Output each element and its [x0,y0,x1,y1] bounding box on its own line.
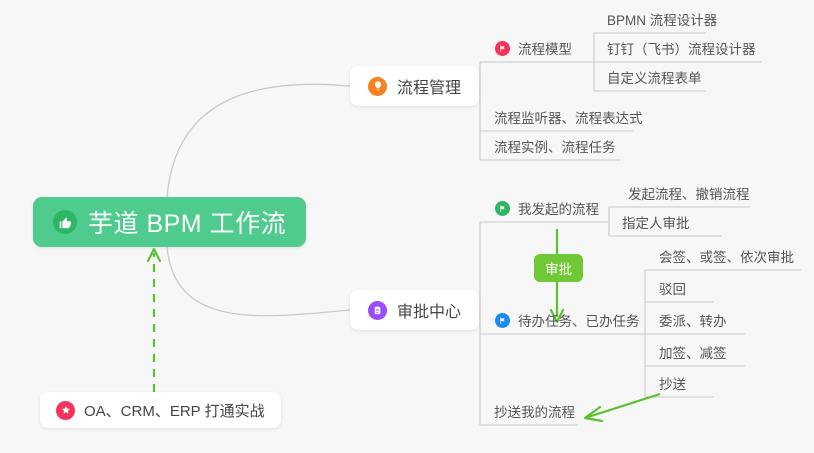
wire-root-to-approval-center [167,247,350,316]
node-delegate-transfer[interactable]: 委派、转办 [652,306,733,334]
node-reject[interactable]: 驳回 [652,274,692,302]
node-label: 流程实例、流程任务 [494,136,616,156]
flag-icon [495,201,510,216]
root-node[interactable]: 芋道 BPM 工作流 [33,197,306,247]
branch-label: 流程管理 [397,74,461,98]
node-instance-task[interactable]: 流程实例、流程任务 [487,132,622,160]
badge-label: 审批 [545,258,572,278]
branch-approval-center[interactable]: 审批中心 [350,290,479,330]
node-label: 指定人审批 [622,212,690,232]
node-label: 抄送我的流程 [494,401,575,421]
node-add-remove-sign[interactable]: 加签、减签 [652,338,733,366]
node-label: BPMN 流程设计器 [607,9,717,29]
node-label: 自定义流程表单 [607,67,702,87]
node-label: 发起流程、撤销流程 [628,183,750,203]
node-label: 流程监听器、流程表达式 [494,107,643,127]
node-bpmn-designer[interactable]: BPMN 流程设计器 [600,5,723,33]
root-label: 芋道 BPM 工作流 [88,204,286,240]
green-arrow-cc-flow [588,394,660,417]
node-process-model[interactable]: 流程模型 [488,34,578,62]
clipboard-icon [368,301,387,320]
node-start-cancel-process[interactable]: 发起流程、撤销流程 [621,179,756,207]
node-label: 加签、减签 [659,342,727,362]
floating-node-oa-crm-erp[interactable]: OA、CRM、ERP 打通实战 [40,392,281,428]
approval-badge[interactable]: 审批 [534,254,583,282]
node-label: 抄送 [659,373,686,393]
floating-node-label: OA、CRM、ERP 打通实战 [84,400,265,421]
node-custom-process-form[interactable]: 自定义流程表单 [600,63,708,91]
node-label: 钉钉（飞书）流程设计器 [607,38,756,58]
node-label: 流程模型 [518,38,572,58]
node-label: 会签、或签、依次审批 [659,246,794,266]
node-label: 委派、转办 [659,310,727,330]
node-my-started-processes[interactable]: 我发起的流程 [488,194,605,222]
node-label: 我发起的流程 [518,198,599,218]
node-assignee-approval[interactable]: 指定人审批 [615,208,696,236]
node-dingtalk-feishu-designer[interactable]: 钉钉（飞书）流程设计器 [600,34,762,62]
node-countersign[interactable]: 会签、或签、依次审批 [652,242,800,270]
node-label: 待办任务、已办任务 [518,310,640,330]
flag-icon [495,41,510,56]
thumbs-up-icon [53,210,77,234]
lightbulb-icon [368,77,387,96]
branch-label: 审批中心 [397,298,461,322]
branch-process-management[interactable]: 流程管理 [350,66,479,106]
green-dashed-arrow-head [148,249,160,261]
flag-icon [495,313,510,328]
green-arrow-cc-head [585,407,602,421]
mindmap-canvas: 芋道 BPM 工作流 流程管理 流程模型 BPMN 流程设计器 钉钉（飞书）流程… [0,0,814,453]
node-todo-done-tasks[interactable]: 待办任务、已办任务 [488,306,646,334]
node-listener-expression[interactable]: 流程监听器、流程表达式 [487,103,649,131]
wire-root-to-process-management [167,84,350,198]
node-cc[interactable]: 抄送 [652,369,692,397]
node-label: 驳回 [659,278,686,298]
node-cc-to-me[interactable]: 抄送我的流程 [487,397,581,425]
star-icon [56,401,75,420]
